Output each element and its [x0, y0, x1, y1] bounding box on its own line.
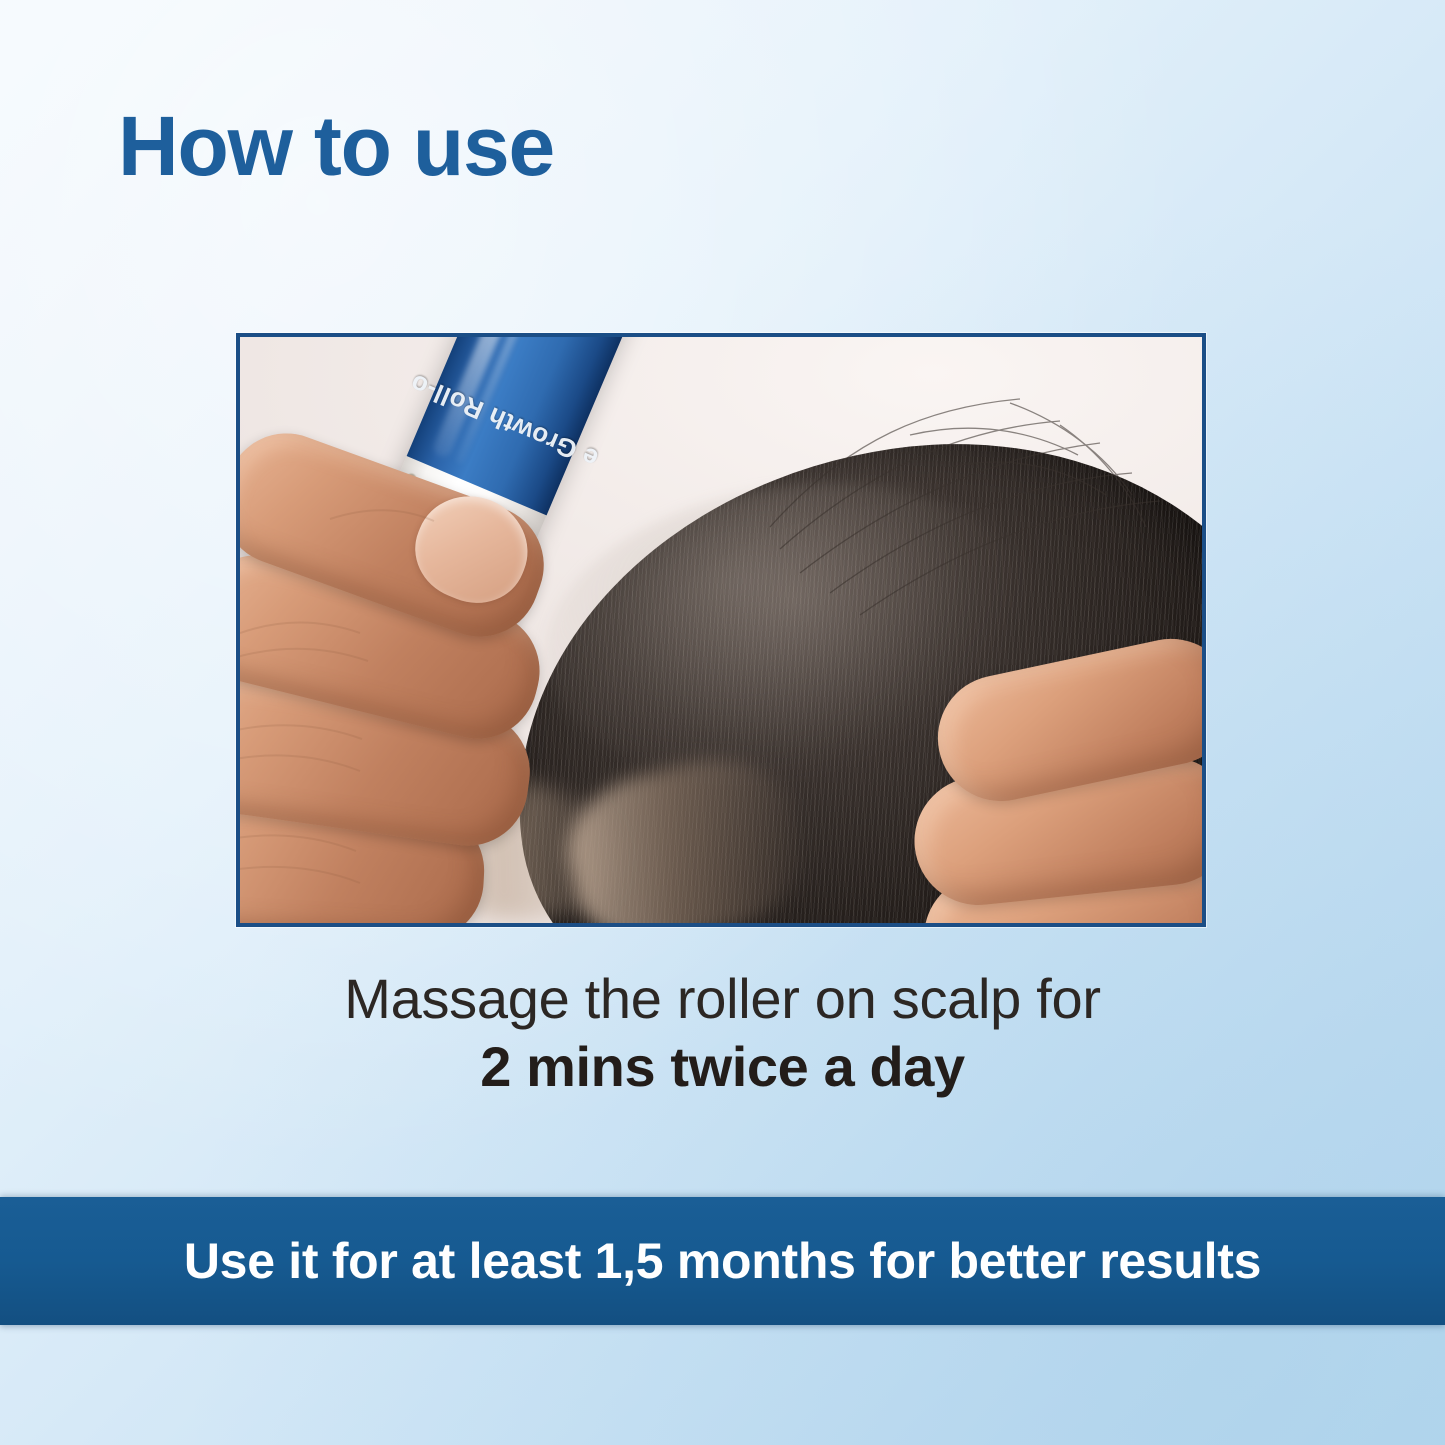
hand-holding-icon — [240, 433, 630, 923]
page-title: How to use — [118, 104, 554, 188]
banner-text: Use it for at least 1,5 months for bette… — [184, 1232, 1261, 1290]
bottom-banner: Use it for at least 1,5 months for bette… — [0, 1197, 1445, 1325]
caption-line-2: 2 mins twice a day — [0, 1035, 1445, 1099]
caption-block: Massage the roller on scalp for 2 mins t… — [0, 968, 1445, 1099]
instruction-photo: e Growth Roll-o — [236, 333, 1206, 927]
skin-crease-lines — [240, 433, 630, 923]
caption-line-1: Massage the roller on scalp for — [0, 968, 1445, 1031]
flyaway-hair-strands — [760, 377, 1190, 637]
hand-icon — [908, 663, 1202, 923]
how-to-use-poster: How to use — [0, 0, 1445, 1445]
photo-canvas: e Growth Roll-o — [240, 337, 1202, 923]
